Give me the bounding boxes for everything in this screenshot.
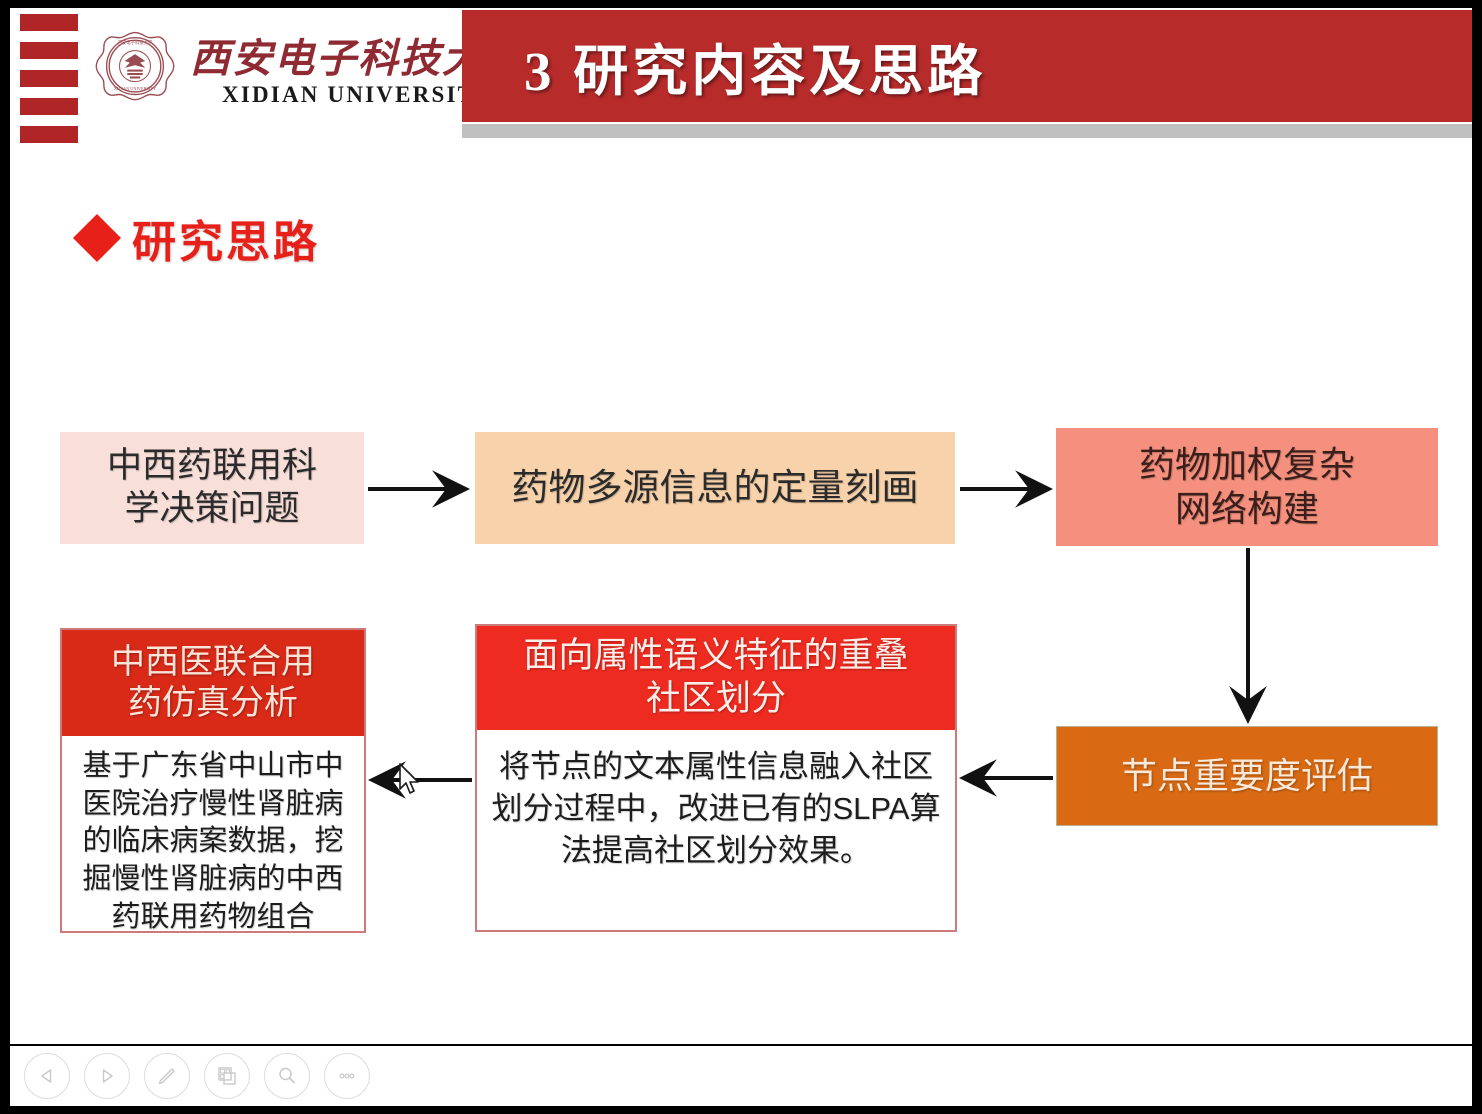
next-slide-button[interactable] <box>84 1053 130 1099</box>
flow-card-simulation-header-line2: 药仿真分析 <box>111 683 315 724</box>
pen-icon <box>155 1064 179 1088</box>
window-frame-left <box>0 0 10 1114</box>
flow-box-node-importance[interactable]: 节点重要度评估 <box>1056 726 1438 826</box>
grid-icon <box>215 1064 239 1088</box>
flow-box-network[interactable]: 药物加权复杂 网络构建 <box>1056 428 1438 546</box>
slide-canvas: 西安电子科技大学 XIDIAN UNIVERSITY 西安电子科技大学 XIDI… <box>10 8 1472 1044</box>
more-options-button[interactable] <box>324 1053 370 1099</box>
slide-grid-button[interactable] <box>204 1053 250 1099</box>
ellipsis-icon <box>335 1064 359 1088</box>
flow-box-quantification-label: 药物多源信息的定量刻画 <box>512 465 919 510</box>
flow-box-node-importance-label: 节点重要度评估 <box>1121 754 1373 798</box>
window-frame-top <box>0 0 1482 8</box>
flow-card-simulation-body: 基于广东省中山市中医院治疗慢性肾脏病的临床病案数据，挖掘慢性肾脏病的中西药联用药… <box>62 736 364 936</box>
presentation-window: 西安电子科技大学 XIDIAN UNIVERSITY 西安电子科技大学 XIDI… <box>0 0 1482 1114</box>
flow-card-community-header: 面向属性语义特征的重叠 社区划分 <box>477 626 955 730</box>
flow-card-community-header-line2: 社区划分 <box>523 678 908 721</box>
triangle-right-icon <box>98 1067 116 1085</box>
mouse-cursor <box>398 763 424 797</box>
window-frame-bottom <box>0 1106 1482 1114</box>
flow-box-problem[interactable]: 中西药联用科 学决策问题 <box>60 432 364 544</box>
flow-card-community-body: 将节点的文本属性信息融入社区划分过程中，改进已有的SLPA算法提高社区划分效果。 <box>477 730 955 872</box>
presentation-toolbar <box>10 1046 1472 1106</box>
zoom-button[interactable] <box>264 1053 310 1099</box>
flow-card-simulation-header-line1: 中西医联合用 <box>111 642 315 683</box>
magnifier-icon <box>275 1064 299 1088</box>
window-frame-right <box>1472 0 1482 1114</box>
flow-card-simulation[interactable]: 中西医联合用 药仿真分析 基于广东省中山市中医院治疗慢性肾脏病的临床病案数据，挖… <box>60 628 366 933</box>
flow-card-community-header-line1: 面向属性语义特征的重叠 <box>523 635 908 678</box>
flow-box-problem-line2: 学决策问题 <box>124 488 299 531</box>
flow-box-quantification[interactable]: 药物多源信息的定量刻画 <box>475 432 955 544</box>
flow-box-problem-line1: 中西药联用科 <box>107 445 317 488</box>
previous-slide-button[interactable] <box>24 1053 70 1099</box>
flow-card-community[interactable]: 面向属性语义特征的重叠 社区划分 将节点的文本属性信息融入社区划分过程中，改进已… <box>475 624 957 932</box>
triangle-left-icon <box>38 1067 56 1085</box>
flow-card-simulation-header: 中西医联合用 药仿真分析 <box>62 630 364 736</box>
research-flow-diagram: 中西药联用科 学决策问题 药物多源信息的定量刻画 药物加权复杂 网络构建 节点重… <box>10 8 1472 1044</box>
flow-box-network-line1: 药物加权复杂 <box>1139 443 1355 487</box>
flow-box-network-line2: 网络构建 <box>1175 487 1319 531</box>
pen-tool-button[interactable] <box>144 1053 190 1099</box>
